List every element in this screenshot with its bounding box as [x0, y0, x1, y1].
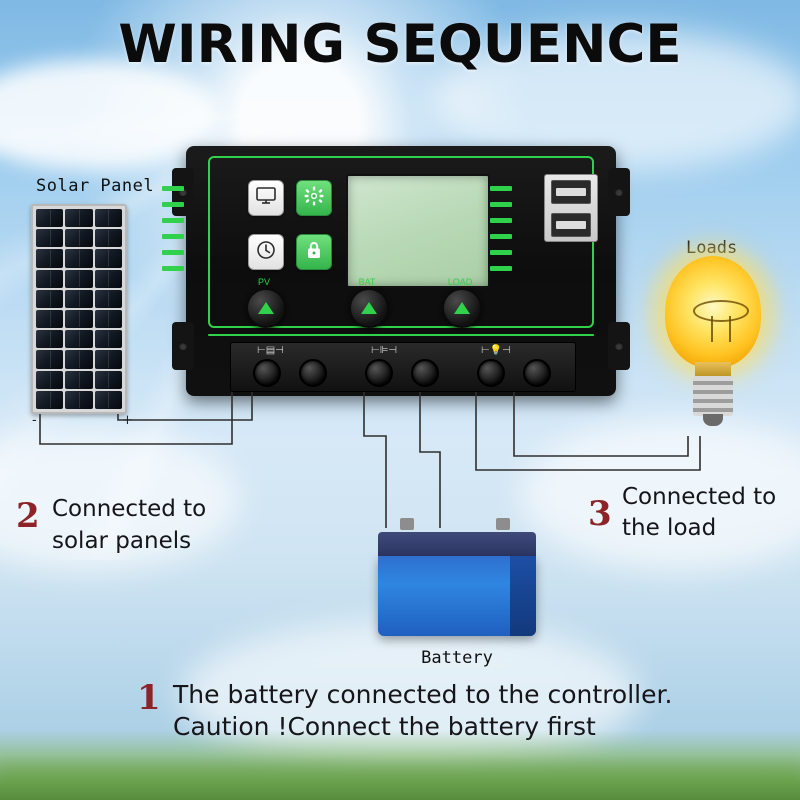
solar-cell — [65, 371, 92, 389]
solar-cell — [36, 229, 63, 247]
solar-cell — [95, 310, 122, 328]
solar-cell — [65, 290, 92, 308]
filament-stem-icon — [711, 316, 731, 342]
accent-stripe — [162, 234, 184, 239]
terminal-solar-plus[interactable] — [253, 359, 281, 387]
step-1-line1: The battery connected to the controller. — [173, 678, 672, 712]
solar-cell — [95, 330, 122, 348]
display-button[interactable] — [248, 180, 284, 216]
mount-ear-right-bottom — [608, 322, 630, 370]
solar-cell — [36, 290, 63, 308]
step-3-line2: the load — [622, 515, 716, 543]
solar-cell — [65, 270, 92, 288]
accent-stripe — [490, 266, 512, 271]
knob-label-bat: BAT — [347, 277, 387, 287]
terminal-load-plus[interactable] — [477, 359, 505, 387]
solar-cell — [95, 371, 122, 389]
accent-stripe — [162, 186, 184, 191]
accent-stripe — [162, 266, 184, 271]
solar-charge-controller: PV BAT LOAD ⊢▤⊣ ⊢⊫⊣ ⊢💡⊣ — [186, 146, 616, 396]
bulb-tip — [703, 414, 723, 426]
solar-cell — [36, 209, 63, 227]
mount-ear-left — [172, 168, 194, 216]
solar-cell — [95, 249, 122, 267]
page-title: WIRING SEQUENCE — [0, 14, 800, 75]
battery-terminal-post-minus — [496, 518, 510, 530]
battery-terminal-icon: ⊢⊫⊣ — [371, 345, 397, 356]
accent-stripe — [162, 250, 184, 255]
usb-port-2[interactable] — [551, 213, 591, 237]
accent-line — [208, 334, 594, 336]
terminal-battery-plus[interactable] — [365, 359, 393, 387]
battery-side — [510, 556, 536, 636]
solar-cell — [65, 391, 92, 409]
load-indicator-knob[interactable] — [442, 288, 482, 328]
solar-cell — [95, 229, 122, 247]
battery — [378, 532, 536, 640]
step-1-line2: Caution !Connect the battery first — [173, 710, 596, 744]
solar-indicator-knob[interactable] — [246, 288, 286, 328]
mount-hole — [615, 342, 623, 350]
solar-cell — [65, 350, 92, 368]
terminal-strip: ⊢▤⊣ ⊢⊫⊣ ⊢💡⊣ — [230, 342, 576, 392]
solar-terminal-icon: ⊢▤⊣ — [257, 345, 284, 356]
monitor-icon — [256, 187, 276, 210]
timer-button[interactable] — [248, 234, 284, 270]
solar-cell — [65, 209, 92, 227]
terminal-load-minus[interactable] — [523, 359, 551, 387]
settings-button[interactable] — [296, 180, 332, 216]
load-icon — [454, 302, 470, 314]
solar-cell — [65, 330, 92, 348]
mount-hole — [179, 342, 187, 350]
terminal-solar-minus[interactable] — [299, 359, 327, 387]
gear-icon — [304, 186, 324, 211]
step-2-line1: Connected to — [52, 496, 206, 524]
knob-label-load: LOAD — [440, 277, 480, 287]
mount-ear-right — [608, 168, 630, 216]
clock-icon — [256, 240, 276, 265]
accent-stripe — [490, 234, 512, 239]
accent-stripe — [490, 218, 512, 223]
step-1-number: 1 — [137, 678, 161, 718]
accent-stripe — [490, 186, 512, 191]
battery-top — [378, 532, 536, 558]
bulb-screw-base — [693, 376, 733, 416]
battery-indicator-knob[interactable] — [349, 288, 389, 328]
battery-label: Battery — [378, 648, 536, 668]
usb-port-1[interactable] — [551, 180, 591, 204]
solar-cell — [36, 249, 63, 267]
bat-icon — [361, 302, 377, 314]
step-2-line2: solar panels — [52, 528, 191, 556]
diagram-canvas: WIRING SEQUENCE Solar Panel — [0, 0, 800, 800]
accent-stripe — [490, 202, 512, 207]
step-2-number: 2 — [16, 496, 40, 536]
battery-terminal-post-plus — [400, 518, 414, 530]
solar-cell — [95, 391, 122, 409]
pv-icon — [258, 302, 274, 314]
solar-cell — [36, 371, 63, 389]
usb-ports[interactable] — [544, 174, 598, 242]
solar-cell — [36, 350, 63, 368]
solar-cell — [65, 310, 92, 328]
lcd-display — [346, 174, 490, 288]
solar-panel-label: Solar Panel — [36, 176, 154, 196]
light-bulb — [659, 256, 767, 436]
step-3-number: 3 — [588, 494, 612, 534]
solar-cell — [36, 270, 63, 288]
accent-stripe — [490, 250, 512, 255]
solar-cell — [95, 350, 122, 368]
solar-cell — [36, 391, 63, 409]
solar-cell — [65, 249, 92, 267]
accent-stripe — [162, 202, 184, 207]
solar-cell — [36, 310, 63, 328]
solar-cell — [95, 270, 122, 288]
step-3-line1: Connected to — [622, 484, 776, 512]
lock-button[interactable] — [296, 234, 332, 270]
solar-cell — [95, 290, 122, 308]
solar-cell — [65, 229, 92, 247]
solar-panel — [31, 204, 127, 414]
load-terminal-icon: ⊢💡⊣ — [481, 345, 511, 356]
solar-cell — [95, 209, 122, 227]
accent-stripe — [162, 218, 184, 223]
terminal-battery-minus[interactable] — [411, 359, 439, 387]
lock-icon — [305, 240, 323, 265]
solar-cell — [36, 330, 63, 348]
mount-hole — [615, 188, 623, 196]
bulb-glass — [665, 256, 761, 368]
mount-ear-left-bottom — [172, 322, 194, 370]
knob-label-pv: PV — [244, 277, 284, 287]
